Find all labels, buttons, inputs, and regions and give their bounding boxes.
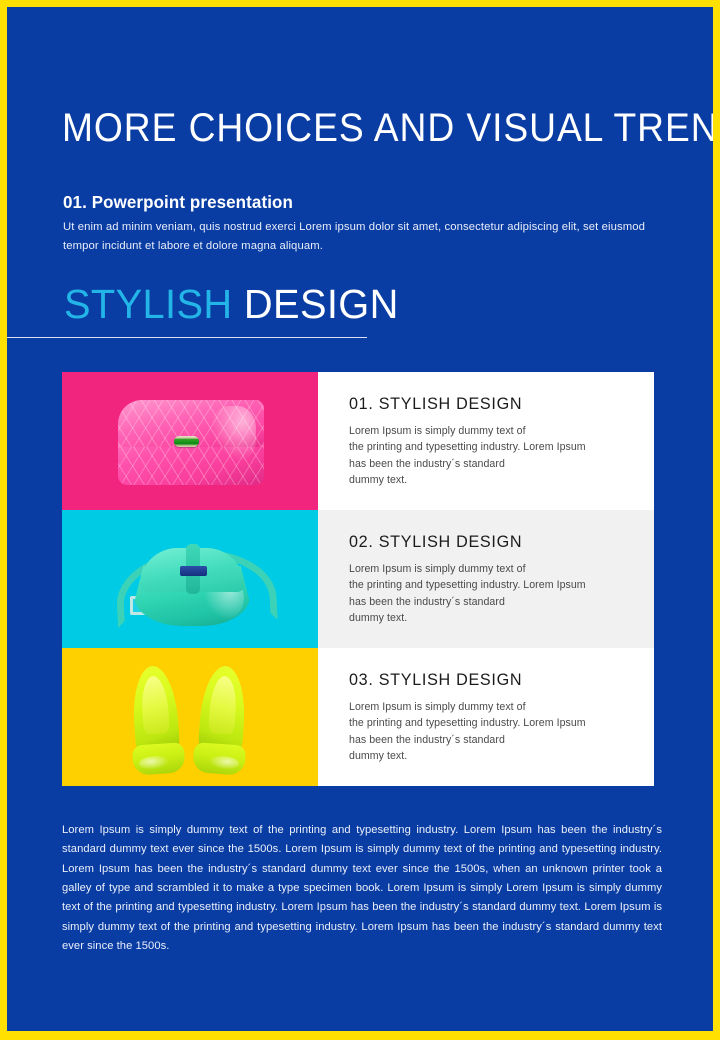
right-heel-shoe [188, 664, 255, 776]
heading-plain-word: DESIGN [244, 281, 399, 327]
clutch-illustration [112, 396, 270, 488]
feature-text-block: 01. STYLISH DESIGN Lorem Ipsum is simply… [318, 372, 654, 510]
feature-title: 02. STYLISH DESIGN [349, 532, 630, 552]
section-body-text: Ut enim ad minim veniam, quis nostrud ex… [63, 218, 671, 256]
feature-title: 01. STYLISH DESIGN [349, 394, 630, 414]
clutch-gloss-highlight [210, 406, 256, 462]
page-title: MORE CHOICES AND VISUAL TRENDS [62, 106, 713, 150]
stylish-design-heading: STYLISH DESIGN [64, 281, 399, 327]
feature-description: Lorem Ipsum is simply dummy text of the … [349, 561, 636, 626]
footer-paragraph: Lorem Ipsum is simply dummy text of the … [62, 821, 662, 956]
table-row[interactable]: 01. STYLISH DESIGN Lorem Ipsum is simply… [62, 372, 654, 510]
clutch-clasp-icon [174, 436, 199, 447]
feature-text-block: 03. STYLISH DESIGN Lorem Ipsum is simply… [318, 648, 654, 786]
pink-clutch-bag-photo [62, 372, 318, 510]
heels-illustration [118, 662, 266, 774]
feature-description: Lorem Ipsum is simply dummy text of the … [349, 423, 636, 488]
feature-text-block: 02. STYLISH DESIGN Lorem Ipsum is simply… [318, 510, 654, 648]
heading-accent-word: STYLISH [64, 281, 232, 327]
satchel-illustration [106, 526, 278, 634]
heading-divider-rule [7, 337, 367, 338]
teal-satchel-bag-photo [62, 510, 318, 648]
slide-frame: MORE CHOICES AND VISUAL TRENDS 01. Power… [0, 0, 720, 1040]
feature-grid: 01. STYLISH DESIGN Lorem Ipsum is simply… [62, 372, 654, 786]
slide-canvas: MORE CHOICES AND VISUAL TRENDS 01. Power… [7, 7, 713, 1031]
table-row[interactable]: 02. STYLISH DESIGN Lorem Ipsum is simply… [62, 510, 654, 648]
table-row[interactable]: 03. STYLISH DESIGN Lorem Ipsum is simply… [62, 648, 654, 786]
left-heel-shoe [122, 664, 189, 776]
feature-description: Lorem Ipsum is simply dummy text of the … [349, 699, 636, 764]
satchel-buckle-icon [180, 566, 207, 576]
section-heading: 01. Powerpoint presentation [63, 191, 293, 213]
yellow-high-heel-shoes-photo [62, 648, 318, 786]
feature-title: 03. STYLISH DESIGN [349, 670, 630, 690]
